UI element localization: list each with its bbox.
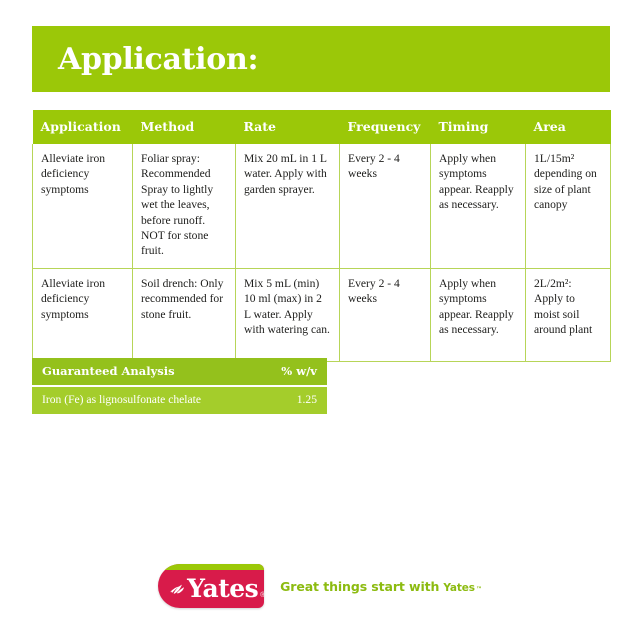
registered-mark-icon: ® <box>260 592 264 599</box>
column-header-area: Area <box>526 110 611 144</box>
cell-rate: Mix 5 mL (min) 10 ml (max) in 2 L water.… <box>236 268 340 361</box>
column-header-frequency: Frequency <box>340 110 431 144</box>
cell-timing: Apply when symptoms appear. Reapply as n… <box>431 144 526 268</box>
guaranteed-analysis-row: Iron (Fe) as lignosulfonate chelate 1.25 <box>32 386 327 414</box>
cell-method: Foliar spray: Recommended Spray to light… <box>133 144 236 268</box>
analysis-ingredient-value: 1.25 <box>233 386 327 414</box>
trademark-icon: ™ <box>476 586 482 593</box>
page-title: Application: <box>32 42 258 77</box>
column-header-rate: Rate <box>236 110 340 144</box>
cell-area: 1L/15m² depending on size of plant canop… <box>526 144 611 268</box>
application-table: Application Method Rate Frequency Timing… <box>32 110 611 362</box>
yates-logo-badge: Yates ® <box>158 564 264 608</box>
column-header-application: Application <box>33 110 133 144</box>
guaranteed-analysis-table: Guaranteed Analysis % w/v Iron (Fe) as l… <box>32 358 327 414</box>
guaranteed-analysis-title: Guaranteed Analysis <box>32 358 233 386</box>
cell-rate: Mix 20 mL in 1 L water. Apply with garde… <box>236 144 340 268</box>
leaf-icon <box>168 580 186 598</box>
cell-frequency: Every 2 - 4 weeks <box>340 268 431 361</box>
yates-wordmark: Yates <box>187 576 258 601</box>
guaranteed-analysis-header-row: Guaranteed Analysis % w/v <box>32 358 327 386</box>
table-row: Alleviate iron deficiency symptoms Soil … <box>33 268 611 361</box>
application-header-banner: Application: <box>32 26 610 92</box>
column-header-timing: Timing <box>431 110 526 144</box>
cell-area: 2L/2m²: Apply to moist soil around plant <box>526 268 611 361</box>
yates-logo: Yates ® Great things start with Yates ™ <box>158 564 482 608</box>
analysis-ingredient-name: Iron (Fe) as lignosulfonate chelate <box>32 386 233 414</box>
tagline-prefix: Great things start with <box>280 579 439 594</box>
cell-timing: Apply when symptoms appear. Reapply as n… <box>431 268 526 361</box>
table-row: Alleviate iron deficiency symptoms Folia… <box>33 144 611 268</box>
cell-application: Alleviate iron deficiency symptoms <box>33 268 133 361</box>
guaranteed-analysis-unit-header: % w/v <box>233 358 327 386</box>
product-label-page: Application: Application Method Rate Fre… <box>0 0 640 640</box>
tagline: Great things start with Yates ™ <box>280 579 482 594</box>
footer: Yates ® Great things start with Yates ™ <box>0 556 640 616</box>
cell-frequency: Every 2 - 4 weeks <box>340 144 431 268</box>
table-header-row: Application Method Rate Frequency Timing… <box>33 110 611 144</box>
cell-method: Soil drench: Only recommended for stone … <box>133 268 236 361</box>
tagline-brand: Yates <box>443 582 475 594</box>
column-header-method: Method <box>133 110 236 144</box>
cell-application: Alleviate iron deficiency symptoms <box>33 144 133 268</box>
